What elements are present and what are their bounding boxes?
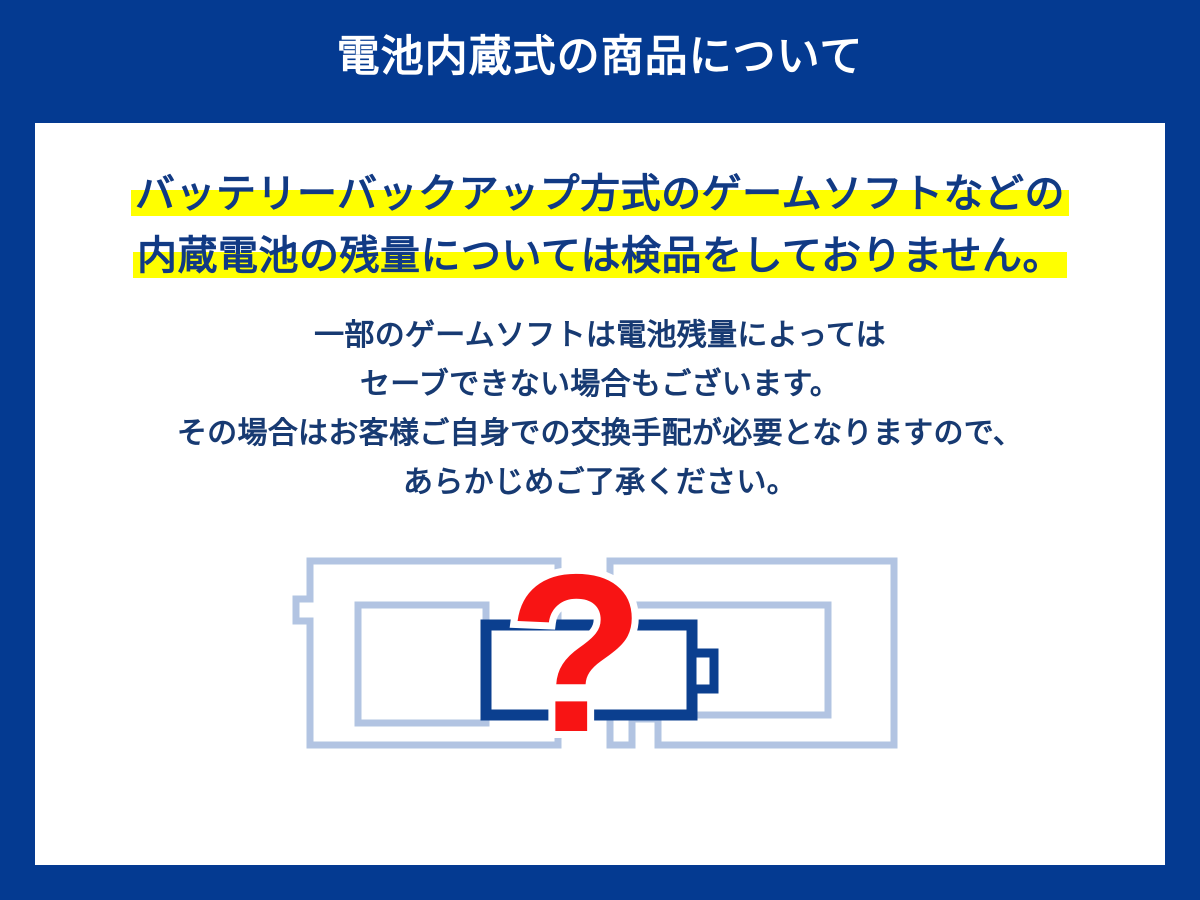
- page-title: 電池内蔵式の商品について: [337, 36, 864, 79]
- headline-line-1: バッテリーバックアップ方式のゲームソフトなどの: [35, 163, 1165, 225]
- battery-terminal-icon: [692, 653, 714, 689]
- body-line-1: 一部のゲームソフトは電池残量によっては: [35, 311, 1165, 360]
- headline-text-2: 内蔵電池の残量については検品をしておりません。: [137, 233, 1063, 279]
- notice-banner: 電池内蔵式の商品について バッテリーバックアップ方式のゲームソフトなどの 内蔵電…: [0, 0, 1200, 900]
- title-bar: 電池内蔵式の商品について: [0, 0, 1200, 123]
- headline-highlight-1: バッテリーバックアップ方式のゲームソフトなどの: [131, 163, 1069, 225]
- headline-line-2: 内蔵電池の残量については検品をしておりません。: [35, 225, 1165, 287]
- headline-highlight-2: 内蔵電池の残量については検品をしておりません。: [133, 225, 1067, 287]
- headline-text-1: バッテリーバックアップ方式のゲームソフトなどの: [135, 171, 1065, 217]
- body-line-4: あらかじめご了承ください。: [35, 458, 1165, 507]
- cartridge-battery-question-illustration: ?: [280, 543, 920, 783]
- question-mark-icon: ?: [507, 543, 644, 779]
- body-text: 一部のゲームソフトは電池残量によっては セーブできない場合もございます。 その場…: [35, 311, 1165, 507]
- body-line-3: その場合はお客様ご自身での交換手配が必要となりますので、: [35, 409, 1165, 458]
- illustration-group: ?: [35, 543, 1165, 793]
- game-cartridge-left-label-icon: [358, 605, 486, 723]
- content-card: バッテリーバックアップ方式のゲームソフトなどの 内蔵電池の残量については検品をし…: [35, 123, 1165, 865]
- body-line-2: セーブできない場合もございます。: [35, 360, 1165, 409]
- headline-block: バッテリーバックアップ方式のゲームソフトなどの 内蔵電池の残量については検品をし…: [35, 163, 1165, 287]
